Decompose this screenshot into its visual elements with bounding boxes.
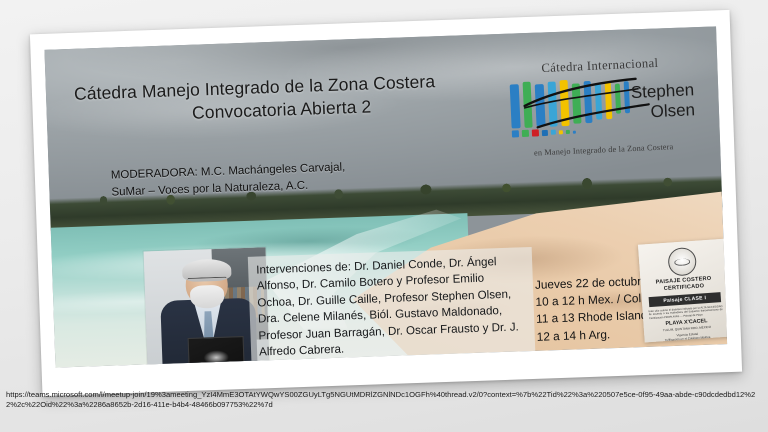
facebook-link[interactable]: https://www.facebook.com/catedraolsen/ — [278, 367, 486, 368]
platform-note: Por Microsoft Teams — [593, 353, 701, 368]
seal-emblem-icon — [667, 247, 697, 277]
speakers-panel: Intervenciones de: Dr. Daniel Conde, Dr.… — [248, 247, 536, 368]
photo-caption: Foto: X'cacel. Playa con el distintivo d… — [320, 357, 727, 367]
logo-name-line-2: Olsen — [631, 100, 695, 123]
catedra-stephen-olsen-logo: Cátedra Internacional — [505, 54, 699, 159]
speakers-text: Intervenciones de: Dr. Daniel Conde, Dr.… — [256, 255, 519, 358]
certification-seal: PAISAJE COSTERO CERTIFICADO Paisaje CLAS… — [638, 239, 727, 343]
teams-meeting-url[interactable]: https://teams.microsoft.com/l/meetup-joi… — [6, 390, 762, 411]
flyer-photo-area: Cátedra Manejo Integrado de la Zona Cost… — [44, 26, 727, 367]
award-plaque — [188, 336, 245, 368]
flyer-card: Cátedra Manejo Integrado de la Zona Cost… — [30, 10, 742, 396]
logo-name: Stephen Olsen — [630, 80, 695, 123]
